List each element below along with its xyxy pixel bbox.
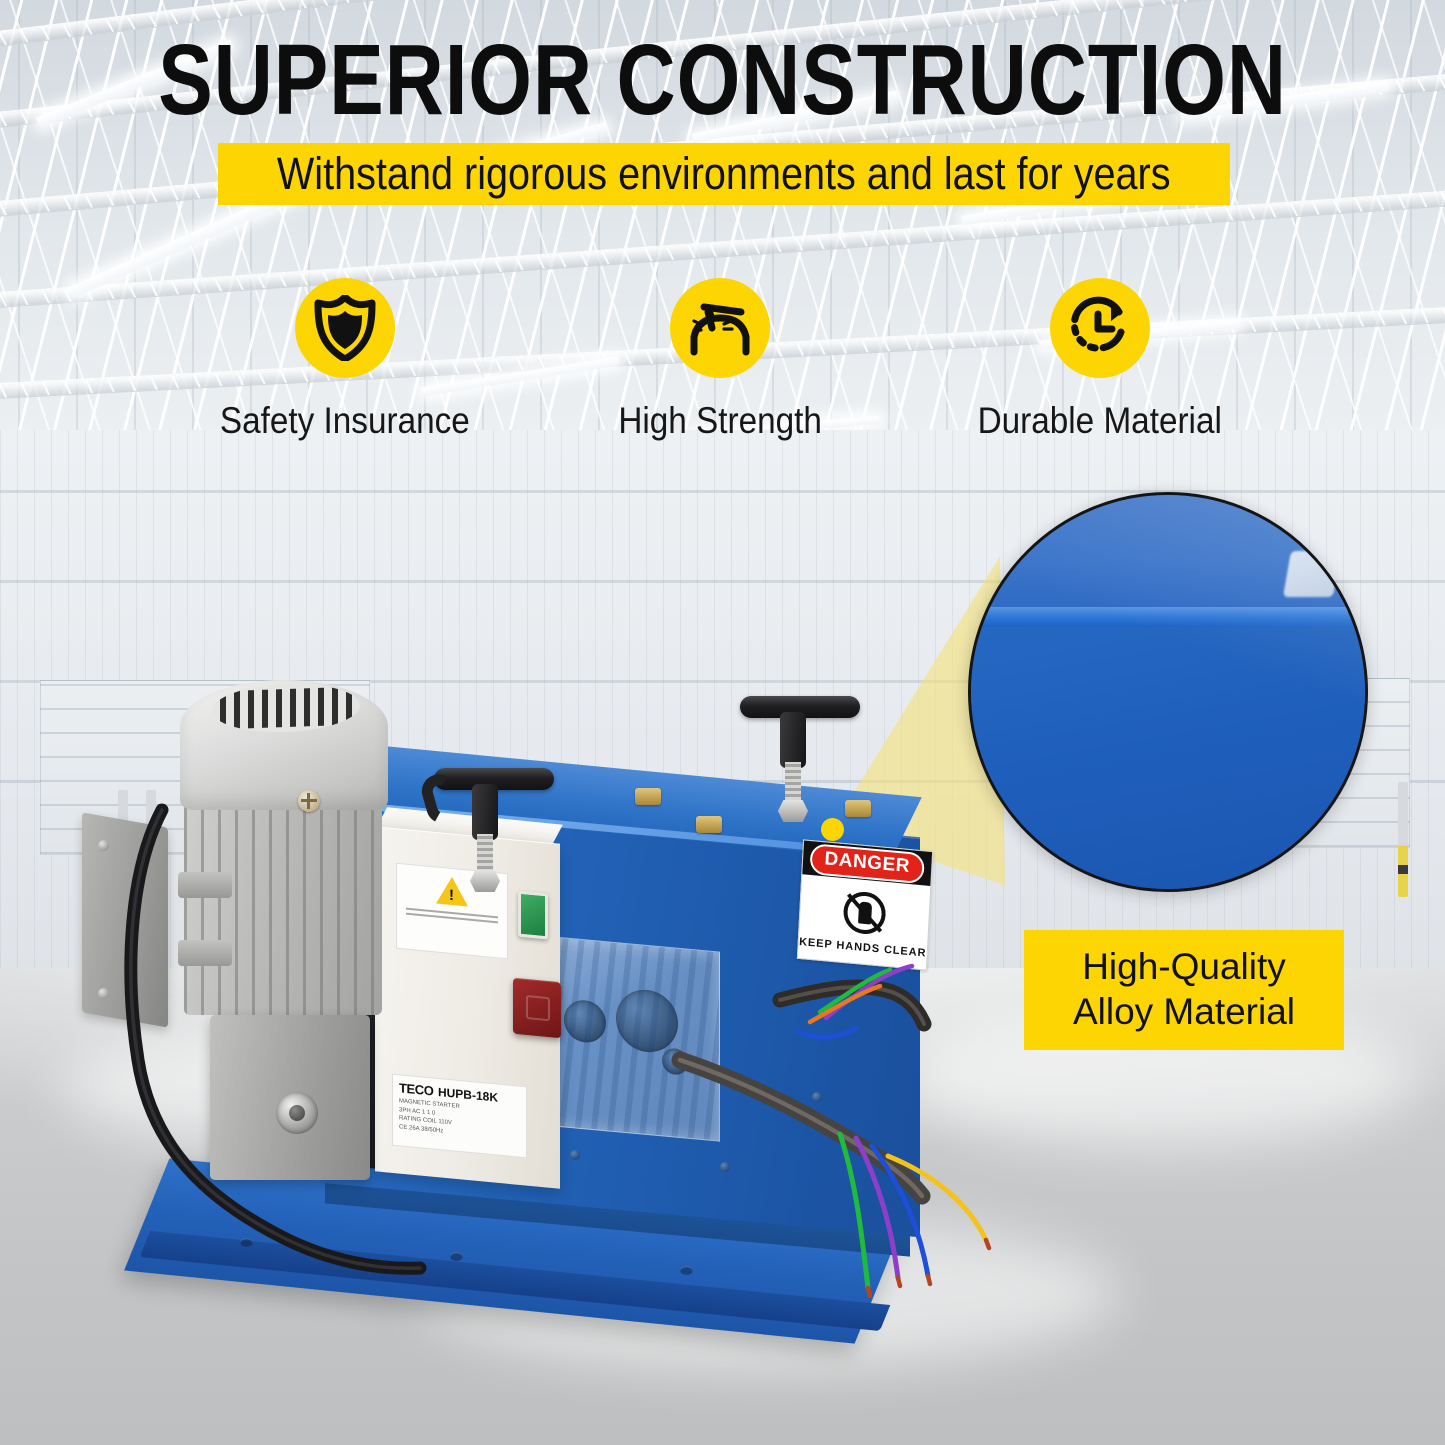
warning-triangle-icon (436, 875, 468, 906)
feature-label: Durable Material (978, 400, 1222, 442)
subtitle-banner: Withstand rigorous environments and last… (218, 143, 1230, 205)
stop-button[interactable] (513, 978, 561, 1039)
shield-icon (295, 278, 395, 378)
motor-screw (298, 790, 320, 812)
page-title: SUPERIOR CONSTRUCTION (130, 30, 1315, 130)
callout-line-2: Alloy Material (1034, 989, 1334, 1034)
danger-decal: DANGER KEEP HANDS CLEAR (797, 839, 933, 970)
feature-safety-insurance: Safety Insurance (170, 278, 520, 442)
feature-row: Safety Insurance (0, 278, 1445, 488)
danger-headline: DANGER (810, 843, 925, 884)
wire-stripping-machine: DANGER KEEP HANDS CLEAR TECO HUPB-18K MA… (120, 640, 1020, 1400)
alloy-material-callout: High-Quality Alloy Material (1024, 930, 1344, 1050)
hammer-arch-icon (670, 278, 770, 378)
feature-label: High Strength (618, 400, 822, 442)
starter-brand: TECO (399, 1080, 434, 1098)
product-marketing-image: SUPERIOR CONSTRUCTION Withstand rigorous… (0, 0, 1445, 1445)
danger-instruction: KEEP HANDS CLEAR (799, 936, 927, 960)
feature-label: Safety Insurance (220, 400, 470, 442)
feature-high-strength: High Strength (545, 278, 895, 442)
motor-body (184, 800, 382, 1015)
feature-durable-material: Durable Material (925, 278, 1275, 442)
no-hands-icon (842, 890, 886, 936)
zoom-source-marker (821, 818, 844, 841)
mounting-bracket (82, 812, 168, 1027)
subtitle-text: Withstand rigorous environments and last… (277, 148, 1171, 200)
magnifier-detail-circle (968, 492, 1368, 892)
start-button[interactable] (518, 891, 548, 940)
gearbox-hub (276, 1092, 318, 1134)
clock-arrow-icon (1050, 278, 1150, 378)
motor-foot (178, 872, 232, 898)
warning-label-text (397, 907, 507, 924)
callout-line-1: High-Quality (1034, 944, 1334, 989)
starter-nameplate: TECO HUPB-18K MAGNETIC STARTER 3PH AC 1 … (392, 1074, 527, 1159)
motor-foot (178, 940, 232, 966)
